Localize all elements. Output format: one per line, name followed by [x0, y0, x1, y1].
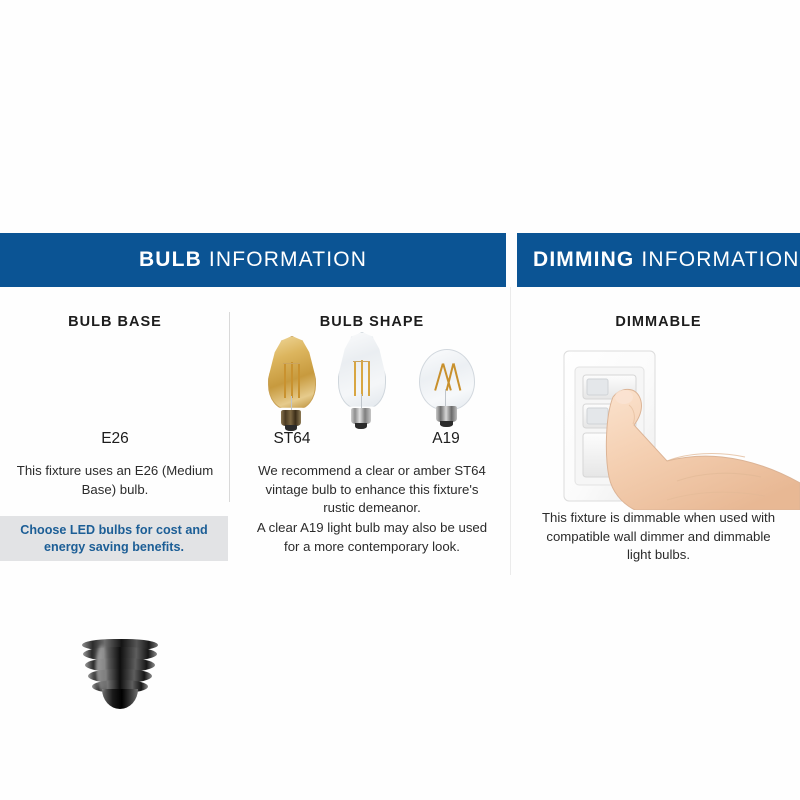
filament-right	[368, 362, 370, 396]
bulb-image-st64-amber	[268, 336, 314, 436]
bulb-base-description: This fixture uses an E26 (Medium Base) b…	[14, 462, 216, 499]
bulb-information-header-strong: BULB	[139, 248, 202, 272]
dimming-information-panel: DIMMABLE	[517, 287, 800, 575]
e26-tip	[102, 689, 138, 709]
filament-crossbar	[353, 361, 370, 362]
bulb-and-dimming-info-graphic: BULB INFORMATION DIMMING INFORMATION BUL…	[0, 0, 800, 800]
bulb-stem	[445, 389, 446, 407]
bulb-image-st64-clear	[338, 332, 384, 436]
bulb-shape-description-1: We recommend a clear or amber ST64 vinta…	[249, 462, 495, 518]
bulb-information-header: BULB INFORMATION	[0, 233, 506, 287]
filament-crossbar	[283, 363, 300, 364]
dimming-information-header: DIMMING INFORMATION	[517, 233, 800, 287]
bulb-shape-heading: BULB SHAPE	[246, 314, 498, 330]
led-recommendation-callout: Choose LED bulbs for cost and energy sav…	[0, 516, 228, 561]
bulb-base-heading: BULB BASE	[9, 314, 221, 330]
bulb-stem	[291, 396, 292, 410]
st64-clear-cap	[351, 408, 371, 424]
st64-amber-cap	[281, 410, 301, 426]
bulb-information-header-light: INFORMATION	[209, 248, 367, 272]
wall-dimmer-with-hand-image	[517, 345, 800, 510]
dimming-information-header-light: INFORMATION	[641, 248, 799, 272]
a19-cap	[436, 406, 457, 422]
bulb-shape-label-st64: ST64	[246, 430, 338, 448]
dimmable-description: This fixture is dimmable when used with …	[533, 509, 784, 565]
bulb-base-label: E26	[9, 430, 221, 448]
a19-cap-tip	[440, 421, 453, 427]
panel-divider	[510, 287, 511, 575]
bulb-stem	[361, 394, 362, 408]
e26-base-image	[80, 639, 160, 711]
dimmable-heading: DIMMABLE	[517, 314, 800, 330]
led-recommendation-text: Choose LED bulbs for cost and energy sav…	[0, 522, 228, 556]
filament-right	[298, 364, 300, 398]
bulb-shape-description-2: A clear A19 light bulb may also be used …	[249, 519, 495, 556]
filament-mid	[361, 360, 363, 396]
st64-clear-cap-tip	[355, 423, 367, 429]
hand-illustration	[606, 389, 800, 510]
bulb-shape-label-a19: A19	[404, 430, 488, 448]
filament-left	[354, 362, 356, 396]
bulb-image-a19-clear	[419, 349, 473, 433]
filament-mid	[291, 362, 293, 398]
e26-highlight	[96, 645, 108, 691]
filament-left	[284, 364, 286, 398]
dimming-information-header-strong: DIMMING	[533, 248, 634, 272]
